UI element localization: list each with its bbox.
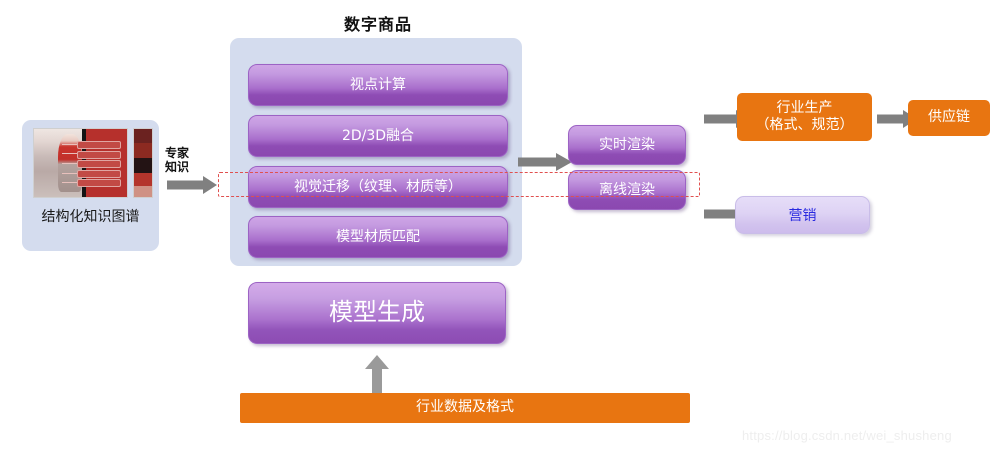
thumbnail-attribute-tag bbox=[77, 151, 122, 159]
marketing-label: 营销 bbox=[789, 205, 817, 225]
realtime-render-box[interactable]: 实时渲染 bbox=[568, 125, 686, 165]
swatch-color bbox=[134, 158, 152, 173]
color-swatch-strip bbox=[133, 128, 153, 198]
supply-chain-box[interactable]: 供应链 bbox=[908, 100, 990, 136]
fashion-annotation-thumbnail bbox=[33, 128, 128, 198]
offline-render-box[interactable]: 离线渲染 bbox=[568, 170, 686, 210]
swatch-color bbox=[134, 143, 152, 158]
swatch-color bbox=[134, 129, 152, 143]
industry-production-box[interactable]: 行业生产 （格式、规范） bbox=[737, 93, 872, 141]
page-title: 数字商品 bbox=[298, 11, 458, 35]
model-generation-label: 模型生成 bbox=[329, 299, 425, 327]
arrow-panel-to-render bbox=[518, 153, 572, 171]
digital-goods-panel: 视点计算 2D/3D融合 视觉迁移（纹理、材质等） 模型材质匹配 bbox=[230, 38, 522, 266]
thumbnail-attribute-tag bbox=[77, 170, 122, 178]
supply-chain-label: 供应链 bbox=[928, 109, 970, 127]
industry-production-line1: 行业生产 bbox=[777, 100, 833, 118]
thumbnail-attribute-tag bbox=[77, 179, 122, 187]
industry-production-line2: （格式、规范） bbox=[756, 117, 854, 135]
swatch-color bbox=[134, 173, 152, 187]
offline-render-label: 离线渲染 bbox=[599, 182, 655, 198]
knowledge-graph-panel: 结构化知识图谱 bbox=[22, 120, 159, 251]
model-generation-box[interactable]: 模型生成 bbox=[248, 282, 506, 344]
diagram-canvas: 数字商品 结构化知识图谱 专家 知识 bbox=[0, 0, 999, 455]
process-item-model-material-matching[interactable]: 模型材质匹配 bbox=[248, 216, 508, 258]
marketing-box[interactable]: 营销 bbox=[735, 196, 870, 234]
thumbnail-attribute-tag bbox=[77, 141, 122, 149]
swatch-color bbox=[134, 186, 152, 197]
process-item-label: 模型材质匹配 bbox=[336, 229, 420, 245]
expert-knowledge-label: 专家 知识 bbox=[165, 147, 225, 175]
process-item-label: 视点计算 bbox=[350, 77, 406, 93]
process-item-label: 2D/3D融合 bbox=[342, 128, 414, 144]
realtime-render-label: 实时渲染 bbox=[599, 137, 655, 153]
process-item-viewpoint-computation[interactable]: 视点计算 bbox=[248, 64, 508, 106]
knowledge-panel-caption: 结构化知识图谱 bbox=[22, 206, 159, 226]
thumbnail-attribute-tag bbox=[77, 160, 122, 168]
industry-data-bar[interactable]: 行业数据及格式 bbox=[240, 393, 690, 423]
process-item-visual-transfer[interactable]: 视觉迁移（纹理、材质等） bbox=[248, 166, 508, 208]
process-item-label: 视觉迁移（纹理、材质等） bbox=[294, 179, 462, 195]
watermark-text: https://blog.csdn.net/wei_shusheng bbox=[742, 428, 952, 443]
arrow-data-to-model bbox=[365, 355, 389, 393]
industry-data-label: 行业数据及格式 bbox=[416, 399, 514, 417]
expert-knowledge-arrow bbox=[167, 176, 217, 194]
process-item-2d-3d-fusion[interactable]: 2D/3D融合 bbox=[248, 115, 508, 157]
